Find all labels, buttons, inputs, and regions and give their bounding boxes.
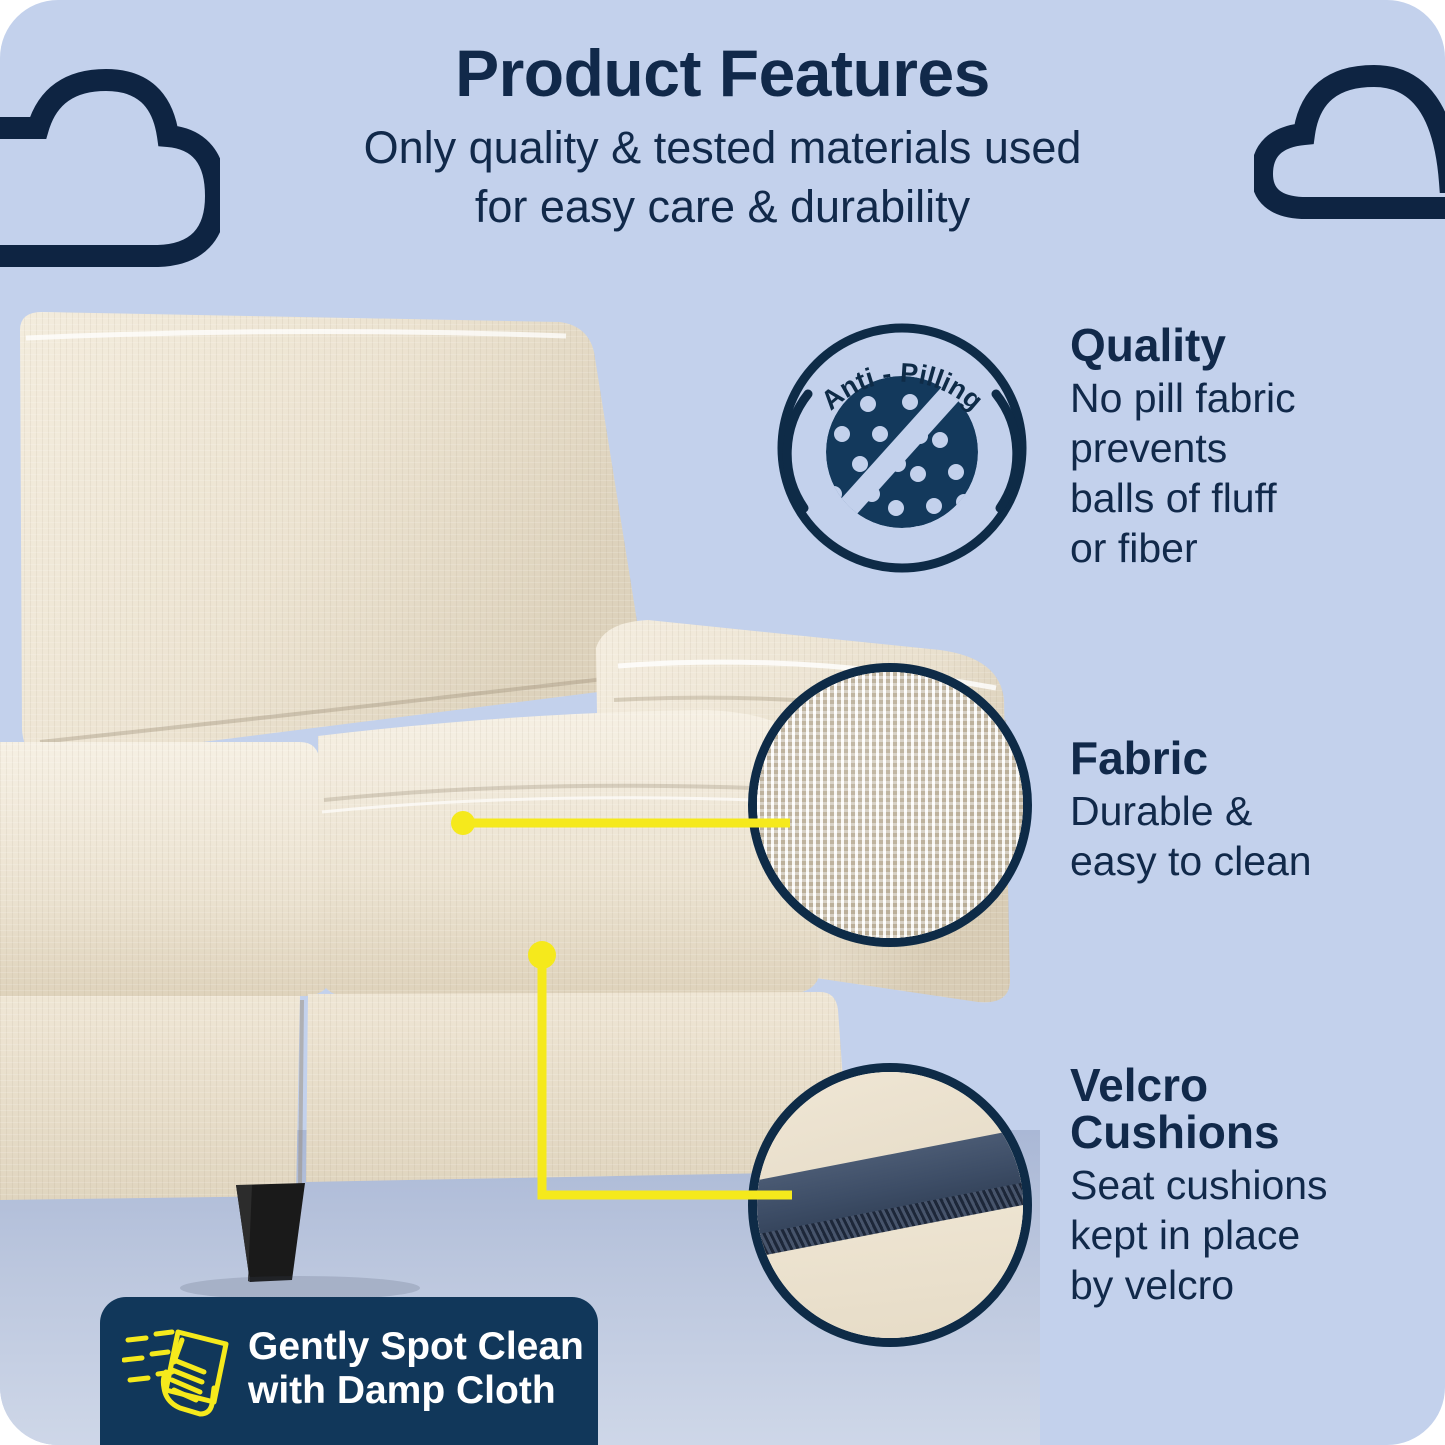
velcro-scene: [757, 1072, 1023, 1338]
quality-desc-line-2: prevents: [1070, 425, 1227, 471]
subtitle-line-2: for easy care & durability: [475, 181, 970, 232]
velcro-title-line-1: Velcro: [1070, 1059, 1208, 1111]
page-subtitle: Only quality & tested materials used for…: [0, 119, 1445, 236]
feature-velcro-title: Velcro Cushions: [1070, 1062, 1430, 1156]
feature-quality-desc: No pill fabric prevents balls of fluff o…: [1070, 373, 1415, 573]
velcro-strip-closeup: [748, 1063, 1032, 1347]
velcro-desc-line-1: Seat cushions: [1070, 1162, 1328, 1208]
anti-pilling-badge-icon: Anti - Pilling: [768, 312, 1036, 574]
quality-desc-line-3: balls of fluff: [1070, 475, 1277, 521]
care-instruction-text: Gently Spot Clean with Damp Cloth: [248, 1325, 584, 1414]
care-line-2: with Damp Cloth: [248, 1369, 556, 1412]
subtitle-line-1: Only quality & tested materials used: [364, 122, 1082, 173]
feature-quality-title: Quality: [1070, 322, 1415, 369]
fabric-desc-line-1: Durable &: [1070, 788, 1252, 834]
quality-desc-line-4: or fiber: [1070, 525, 1198, 571]
header-block: Product Features Only quality & tested m…: [0, 40, 1445, 236]
feature-velcro-desc: Seat cushions kept in place by velcro: [1070, 1160, 1430, 1310]
velcro-desc-line-3: by velcro: [1070, 1262, 1234, 1308]
quality-desc-line-1: No pill fabric: [1070, 375, 1296, 421]
fabric-texture: [757, 672, 1023, 938]
hand-wiping-cloth-icon: [122, 1316, 242, 1422]
feature-fabric: Fabric Durable & easy to clean: [1070, 735, 1415, 886]
care-instruction-badge: Gently Spot Clean with Damp Cloth: [100, 1297, 598, 1445]
infographic-canvas: Product Features Only quality & tested m…: [0, 0, 1445, 1445]
fabric-weave-closeup: [748, 663, 1032, 947]
velcro-title-line-2: Cushions: [1070, 1106, 1280, 1158]
page-title: Product Features: [0, 40, 1445, 107]
velcro-desc-line-2: kept in place: [1070, 1212, 1300, 1258]
feature-fabric-desc: Durable & easy to clean: [1070, 786, 1415, 886]
feature-fabric-title: Fabric: [1070, 735, 1415, 782]
care-line-1: Gently Spot Clean: [248, 1325, 584, 1368]
feature-quality: Quality No pill fabric prevents balls of…: [1070, 322, 1415, 573]
fabric-desc-line-2: easy to clean: [1070, 838, 1312, 884]
feature-velcro: Velcro Cushions Seat cushions kept in pl…: [1070, 1062, 1430, 1310]
